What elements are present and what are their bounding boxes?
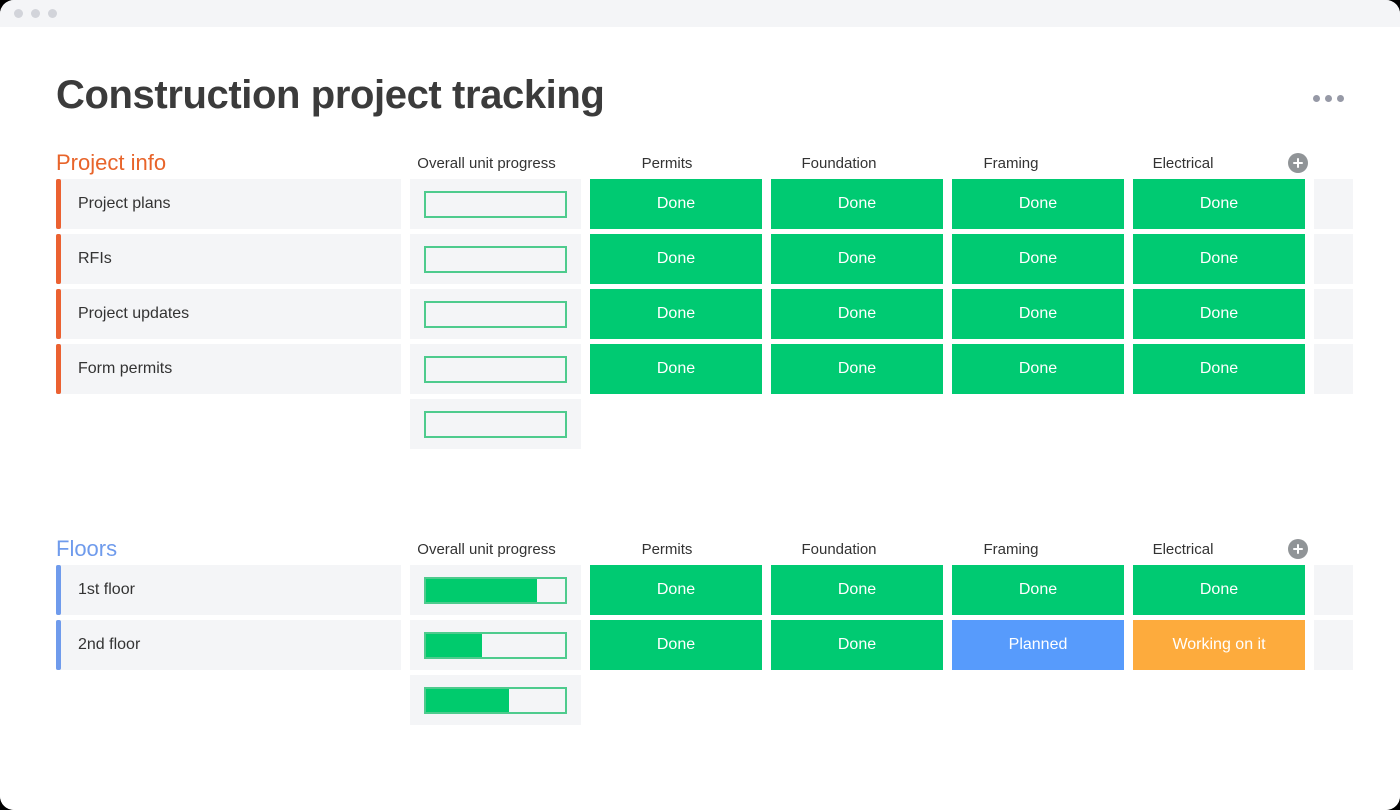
row-name[interactable]: 1st floor	[56, 565, 401, 615]
more-dot-1-icon	[1313, 95, 1320, 102]
status-cell-foundation[interactable]: Done	[771, 179, 943, 229]
row-name[interactable]: 2nd floor	[56, 620, 401, 670]
group-project-info: Project info Overall unit progress Permi…	[56, 147, 1400, 449]
row-name[interactable]: Project plans	[56, 179, 401, 229]
progress-bar	[424, 356, 567, 383]
status-cell-electrical[interactable]: Done	[1133, 565, 1305, 615]
table-row[interactable]: Form permits Done Done Done Done	[56, 344, 1400, 394]
status-cell-permits[interactable]: Done	[590, 620, 762, 670]
row-tail-cell[interactable]	[1314, 289, 1353, 339]
status-cell-framing[interactable]: Planned	[952, 620, 1124, 670]
add-column-plus-icon[interactable]	[1288, 539, 1308, 559]
progress-bar-fill	[426, 579, 537, 602]
table-row[interactable]: 1st floor Done Done Done Done	[56, 565, 1400, 615]
summary-spacer-framing	[952, 399, 1124, 449]
status-cell-permits[interactable]: Done	[590, 179, 762, 229]
progress-bar-fill	[426, 689, 509, 712]
status-cell-framing[interactable]: Done	[952, 234, 1124, 284]
row-name[interactable]: RFIs	[56, 234, 401, 284]
status-cell-framing[interactable]: Done	[952, 565, 1124, 615]
add-column-cell	[1269, 153, 1326, 173]
window-titlebar	[0, 0, 1400, 27]
status-cell-electrical[interactable]: Done	[1133, 344, 1305, 394]
group-title-project-info[interactable]: Project info	[56, 152, 401, 174]
summary-name-spacer	[56, 399, 401, 449]
row-progress-cell[interactable]	[410, 179, 581, 229]
status-cell-permits[interactable]: Done	[590, 565, 762, 615]
status-cell-foundation[interactable]: Done	[771, 620, 943, 670]
column-header-progress: Overall unit progress	[401, 155, 572, 172]
page-body: Construction project tracking Project in…	[0, 27, 1400, 810]
summary-spacer-foundation	[771, 675, 943, 725]
group-summary-row	[56, 399, 1400, 449]
summary-name-spacer	[56, 675, 401, 725]
status-cell-foundation[interactable]: Done	[771, 234, 943, 284]
row-progress-cell[interactable]	[410, 565, 581, 615]
progress-bar	[424, 687, 567, 714]
progress-bar	[424, 577, 567, 604]
more-dot-3-icon	[1337, 95, 1344, 102]
row-name[interactable]: Form permits	[56, 344, 401, 394]
more-options-icon[interactable]	[1313, 73, 1344, 102]
column-header-electrical: Electrical	[1097, 541, 1269, 558]
table-row[interactable]: Project plans Done Done Done Done	[56, 179, 1400, 229]
row-tail-cell[interactable]	[1314, 234, 1353, 284]
summary-spacer-permits	[590, 675, 762, 725]
traffic-light-maximize-icon[interactable]	[48, 9, 57, 18]
page-title: Construction project tracking	[56, 73, 604, 117]
status-cell-permits[interactable]: Done	[590, 234, 762, 284]
row-tail-cell[interactable]	[1314, 344, 1353, 394]
row-progress-cell[interactable]	[410, 234, 581, 284]
column-header-electrical: Electrical	[1097, 155, 1269, 172]
progress-bar	[424, 301, 567, 328]
add-column-plus-icon[interactable]	[1288, 153, 1308, 173]
more-dot-2-icon	[1325, 95, 1332, 102]
row-name[interactable]: Project updates	[56, 289, 401, 339]
row-progress-cell[interactable]	[410, 620, 581, 670]
column-header-framing: Framing	[925, 155, 1097, 172]
group-header-floors: Floors Overall unit progress Permits Fou…	[56, 533, 1400, 565]
status-cell-foundation[interactable]: Done	[771, 289, 943, 339]
summary-spacer-electrical	[1133, 399, 1305, 449]
row-progress-cell[interactable]	[410, 344, 581, 394]
row-progress-cell[interactable]	[410, 289, 581, 339]
board: Project info Overall unit progress Permi…	[0, 147, 1400, 725]
status-cell-electrical[interactable]: Done	[1133, 234, 1305, 284]
group-header-project-info: Project info Overall unit progress Permi…	[56, 147, 1400, 179]
status-cell-permits[interactable]: Done	[590, 289, 762, 339]
table-row[interactable]: RFIs Done Done Done Done	[56, 234, 1400, 284]
column-header-permits: Permits	[581, 541, 753, 558]
progress-bar	[424, 246, 567, 273]
summary-spacer-foundation	[771, 399, 943, 449]
table-row[interactable]: 2nd floor Done Done Planned Working on i…	[56, 620, 1400, 670]
summary-spacer-electrical	[1133, 675, 1305, 725]
app-window: Construction project tracking Project in…	[0, 0, 1400, 810]
traffic-light-minimize-icon[interactable]	[31, 9, 40, 18]
status-cell-foundation[interactable]: Done	[771, 565, 943, 615]
progress-bar	[424, 191, 567, 218]
summary-progress-cell	[410, 675, 581, 725]
progress-bar	[424, 411, 567, 438]
group-floors: Floors Overall unit progress Permits Fou…	[56, 533, 1400, 725]
summary-spacer-framing	[952, 675, 1124, 725]
row-tail-cell[interactable]	[1314, 620, 1353, 670]
group-summary-row	[56, 675, 1400, 725]
table-row[interactable]: Project updates Done Done Done Done	[56, 289, 1400, 339]
status-cell-electrical[interactable]: Working on it	[1133, 620, 1305, 670]
column-header-permits: Permits	[581, 155, 753, 172]
status-cell-electrical[interactable]: Done	[1133, 289, 1305, 339]
progress-bar	[424, 632, 567, 659]
page-header: Construction project tracking	[0, 27, 1400, 117]
row-tail-cell[interactable]	[1314, 179, 1353, 229]
column-header-framing: Framing	[925, 541, 1097, 558]
status-cell-foundation[interactable]: Done	[771, 344, 943, 394]
summary-progress-cell	[410, 399, 581, 449]
column-header-foundation: Foundation	[753, 541, 925, 558]
status-cell-electrical[interactable]: Done	[1133, 179, 1305, 229]
summary-tail-spacer	[1314, 675, 1353, 725]
traffic-light-close-icon[interactable]	[14, 9, 23, 18]
status-cell-framing[interactable]: Done	[952, 344, 1124, 394]
group-title-floors[interactable]: Floors	[56, 538, 401, 560]
status-cell-permits[interactable]: Done	[590, 344, 762, 394]
status-cell-framing[interactable]: Done	[952, 179, 1124, 229]
summary-spacer-permits	[590, 399, 762, 449]
row-tail-cell[interactable]	[1314, 565, 1353, 615]
column-header-foundation: Foundation	[753, 155, 925, 172]
status-cell-framing[interactable]: Done	[952, 289, 1124, 339]
column-header-progress: Overall unit progress	[401, 541, 572, 558]
add-column-cell	[1269, 539, 1326, 559]
progress-bar-fill	[426, 634, 482, 657]
summary-tail-spacer	[1314, 399, 1353, 449]
